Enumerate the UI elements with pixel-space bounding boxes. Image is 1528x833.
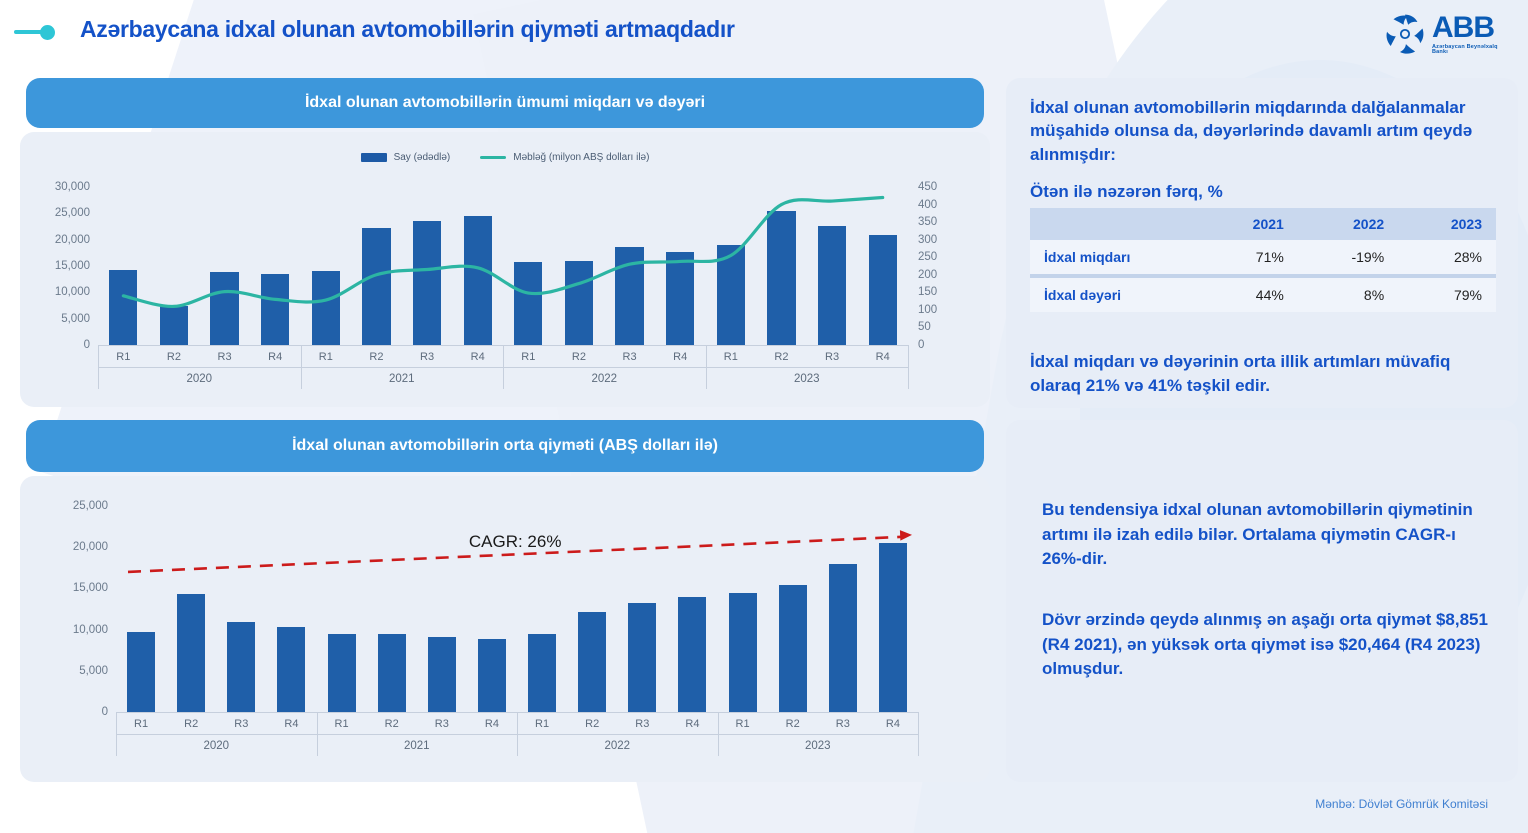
source-note: Mənbə: Dövlət Gömrük Komitəsi [1315,797,1488,811]
row-label-import-value: İdxal dəyəri [1030,278,1200,312]
row-label-import-volume: İdxal miqdarı [1030,240,1200,274]
cell-value-2023: 79% [1398,278,1496,312]
infographic-page: Azərbaycana idxal olunan avtomobillərin … [0,0,1528,833]
diff-table-caption: Ötən ilə nəzərən fərq, % [1030,182,1223,202]
abb-logo: ABB Azərbaycan Beynəlxalq Bankı [1382,8,1510,60]
insight-paragraph-2: Dövr ərzində qeydə alınmış ən aşağı orta… [1042,608,1502,682]
insight-lead-text: İdxal olunan avtomobillərin miqdarında d… [1030,96,1498,166]
value-line-series [20,132,990,407]
chart2-plot-area: 05,00010,00015,00020,00025,000R1R2R3R4R1… [20,476,990,782]
insight-panel-top: İdxal olunan avtomobillərin miqdarında d… [1006,78,1518,408]
chart-imports-volume-value: Say (ədədlə) Məbləğ (milyon ABŞ dolları … [20,132,990,407]
insight-paragraph-1: Bu tendensiya idxal olunan avtomobilləri… [1042,498,1492,572]
table-row: İdxal miqdarı 71% -19% 28% [1030,240,1496,274]
cell-value-2022: 8% [1298,278,1398,312]
chart-average-price: 05,00010,00015,00020,00025,000R1R2R3R4R1… [20,476,990,782]
cell-volume-2022: -19% [1298,240,1398,274]
table-col-2022: 2022 [1298,208,1398,240]
yoy-difference-table: 2021 2022 2023 İdxal miqdarı 71% -19% 28… [1030,208,1496,312]
accent-dot-icon [40,25,55,40]
cell-volume-2021: 71% [1200,240,1298,274]
table-col-2023: 2023 [1398,208,1496,240]
logo-wordmark: ABB [1432,13,1510,43]
insight-footnote-text: İdxal miqdarı və dəyərinin orta illik ar… [1030,350,1500,398]
chart1-title-banner: İdxal olunan avtomobillərin ümumi miqdar… [26,78,984,128]
cagr-annotation-label: CAGR: 26% [469,532,562,552]
insight-panel-bottom: Bu tendensiya idxal olunan avtomobilləri… [1006,420,1518,782]
cell-value-2021: 44% [1200,278,1298,312]
table-header-row: 2021 2022 2023 [1030,208,1496,240]
cagr-trend-arrow-icon [20,476,990,782]
table-corner-cell [1030,208,1200,240]
chart2-title-banner: İdxal olunan avtomobillərin orta qiyməti… [26,420,984,472]
abb-pinwheel-icon [1382,11,1428,57]
table-row: İdxal dəyəri 44% 8% 79% [1030,278,1496,312]
page-header: Azərbaycana idxal olunan avtomobillərin … [0,0,1528,66]
logo-subtitle: Azərbaycan Beynəlxalq Bankı [1432,45,1510,56]
cell-volume-2023: 28% [1398,240,1496,274]
chart1-plot-area: 05,00010,00015,00020,00025,00030,0000501… [20,132,990,407]
table-col-2021: 2021 [1200,208,1298,240]
page-title: Azərbaycana idxal olunan avtomobillərin … [80,16,735,43]
